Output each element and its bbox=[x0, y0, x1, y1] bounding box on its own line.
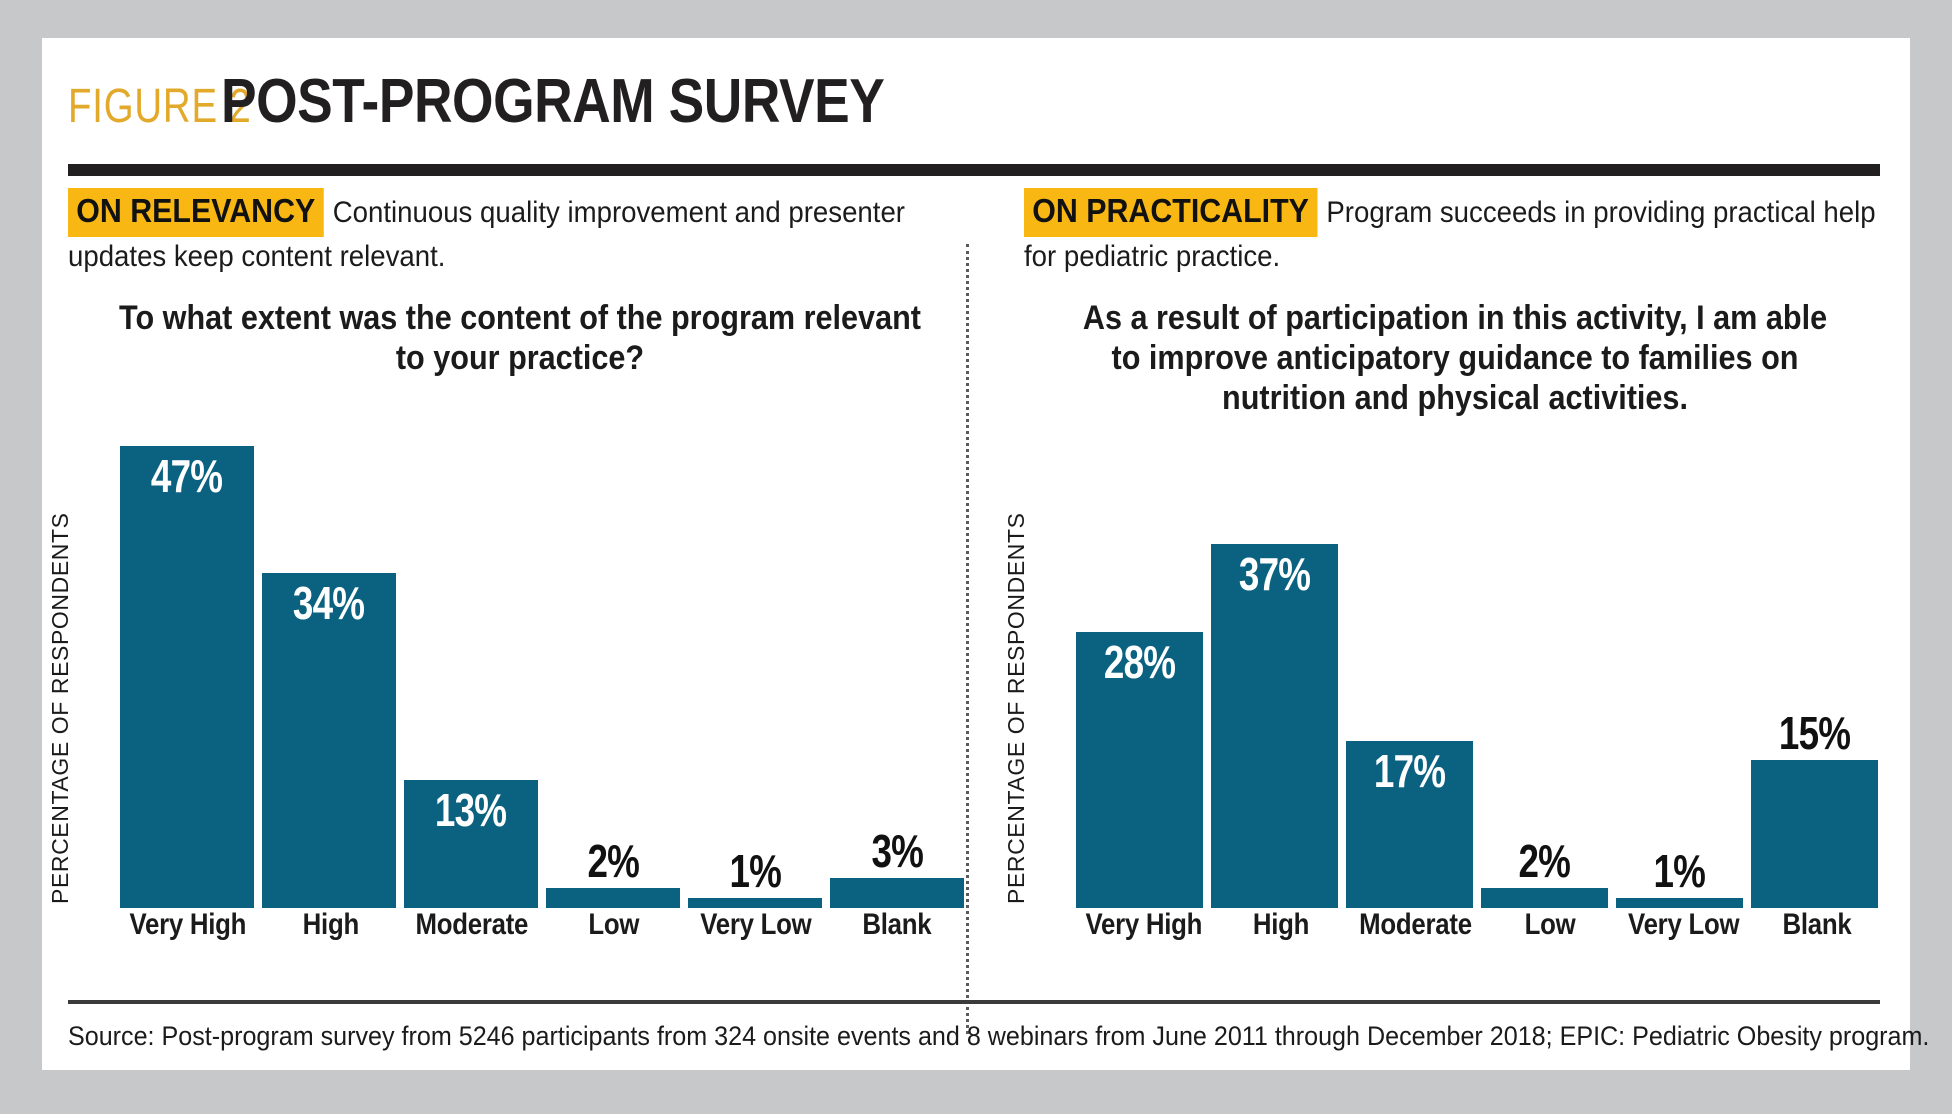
bar-column: 34% bbox=[262, 416, 396, 908]
source-note: Source: Post-program survey from 5246 pa… bbox=[68, 1021, 1753, 1052]
x-axis-labels-relevancy: Very HighHighModerateLowVery LowBlank bbox=[120, 908, 964, 956]
x-axis-tick-label: Moderate bbox=[415, 908, 530, 956]
bar: 47% bbox=[120, 446, 254, 908]
bar-value-label: 13% bbox=[435, 780, 506, 833]
bar-column: 17% bbox=[1346, 416, 1473, 908]
bar bbox=[1751, 760, 1878, 908]
bar-value-label: 1% bbox=[1654, 848, 1706, 894]
bar: 34% bbox=[262, 573, 396, 908]
x-axis-tick-label: Very Low bbox=[1628, 908, 1739, 956]
figure-card: FIGURE 2 POST-PROGRAM SURVEY ON RELEVANC… bbox=[42, 38, 1910, 1070]
panel-practicality: ON PRACTICALITYProgram succeeds in provi… bbox=[1024, 188, 1886, 998]
page-title: POST-PROGRAM SURVEY bbox=[221, 66, 884, 137]
bar: 37% bbox=[1211, 544, 1338, 908]
x-axis-labels-practicality: Very HighHighModerateLowVery LowBlank bbox=[1076, 908, 1878, 956]
bar-column: 15% bbox=[1751, 416, 1878, 908]
figure-header: FIGURE 2 POST-PROGRAM SURVEY bbox=[68, 66, 1868, 176]
bar: 17% bbox=[1346, 741, 1473, 908]
footer-divider-rule bbox=[68, 1000, 1880, 1004]
bar-column: 2% bbox=[546, 416, 680, 908]
lede-relevancy: ON RELEVANCYContinuous quality improveme… bbox=[68, 188, 966, 276]
question-practicality: As a result of participation in this act… bbox=[1067, 298, 1843, 418]
bar-value-label: 2% bbox=[1519, 838, 1571, 884]
x-axis-tick-label: Low bbox=[1497, 908, 1602, 956]
bar-value-label: 28% bbox=[1104, 632, 1175, 685]
bar-value-label: 15% bbox=[1779, 710, 1850, 756]
bar-value-label: 17% bbox=[1374, 741, 1445, 794]
panel-relevancy: ON RELEVANCYContinuous quality improveme… bbox=[68, 188, 972, 998]
x-axis-tick-label: High bbox=[273, 908, 388, 956]
x-axis-tick-label: Moderate bbox=[1359, 908, 1472, 956]
bar-group-relevancy: 47%34%13%2%1%3% bbox=[120, 416, 964, 908]
bar-value-label: 1% bbox=[729, 848, 781, 894]
bar-column: 1% bbox=[688, 416, 822, 908]
x-axis-tick-label: High bbox=[1228, 908, 1333, 956]
x-axis-tick-label: Blank bbox=[1765, 908, 1870, 956]
title-divider-rule bbox=[68, 164, 1880, 176]
tag-on-practicality: ON PRACTICALITY bbox=[1024, 188, 1317, 237]
chart-relevancy: PERCENTAGE OF RESPONDENTS 47%34%13%2%1%3… bbox=[68, 416, 972, 956]
bar bbox=[1481, 888, 1608, 908]
bar: 28% bbox=[1076, 632, 1203, 908]
bar-group-practicality: 28%37%17%2%1%15% bbox=[1076, 416, 1878, 908]
bar-column: 28% bbox=[1076, 416, 1203, 908]
bar bbox=[830, 878, 964, 908]
bar-value-label: 47% bbox=[151, 446, 222, 499]
bar-value-label: 2% bbox=[587, 838, 639, 884]
y-axis-label-relevancy: PERCENTAGE OF RESPONDENTS bbox=[47, 512, 74, 904]
bar bbox=[1616, 898, 1743, 908]
bar-column: 1% bbox=[1616, 416, 1743, 908]
x-axis-tick-label: Very Low bbox=[698, 908, 813, 956]
x-axis-tick-label: Very High bbox=[129, 908, 246, 956]
x-axis-tick-label: Blank bbox=[840, 908, 955, 956]
bar-column: 13% bbox=[404, 416, 538, 908]
y-axis-label-practicality: PERCENTAGE OF RESPONDENTS bbox=[1003, 512, 1030, 904]
lede-practicality: ON PRACTICALITYProgram succeeds in provi… bbox=[1024, 188, 1880, 276]
bar-column: 3% bbox=[830, 416, 964, 908]
bar-value-label: 3% bbox=[871, 828, 923, 874]
bar-value-label: 37% bbox=[1239, 544, 1310, 597]
question-relevancy: To what extent was the content of the pr… bbox=[113, 298, 927, 378]
bar-column: 2% bbox=[1481, 416, 1608, 908]
bar bbox=[546, 888, 680, 908]
x-axis-tick-label: Low bbox=[556, 908, 671, 956]
panels-container: ON RELEVANCYContinuous quality improveme… bbox=[42, 188, 1910, 998]
bar-value-label: 34% bbox=[293, 573, 364, 626]
chart-practicality: PERCENTAGE OF RESPONDENTS 28%37%17%2%1%1… bbox=[1024, 416, 1886, 956]
x-axis-tick-label: Very High bbox=[1085, 908, 1202, 956]
bar-column: 47% bbox=[120, 416, 254, 908]
tag-on-relevancy: ON RELEVANCY bbox=[68, 188, 324, 237]
bar-column: 37% bbox=[1211, 416, 1338, 908]
bar bbox=[688, 898, 822, 908]
bar: 13% bbox=[404, 780, 538, 908]
